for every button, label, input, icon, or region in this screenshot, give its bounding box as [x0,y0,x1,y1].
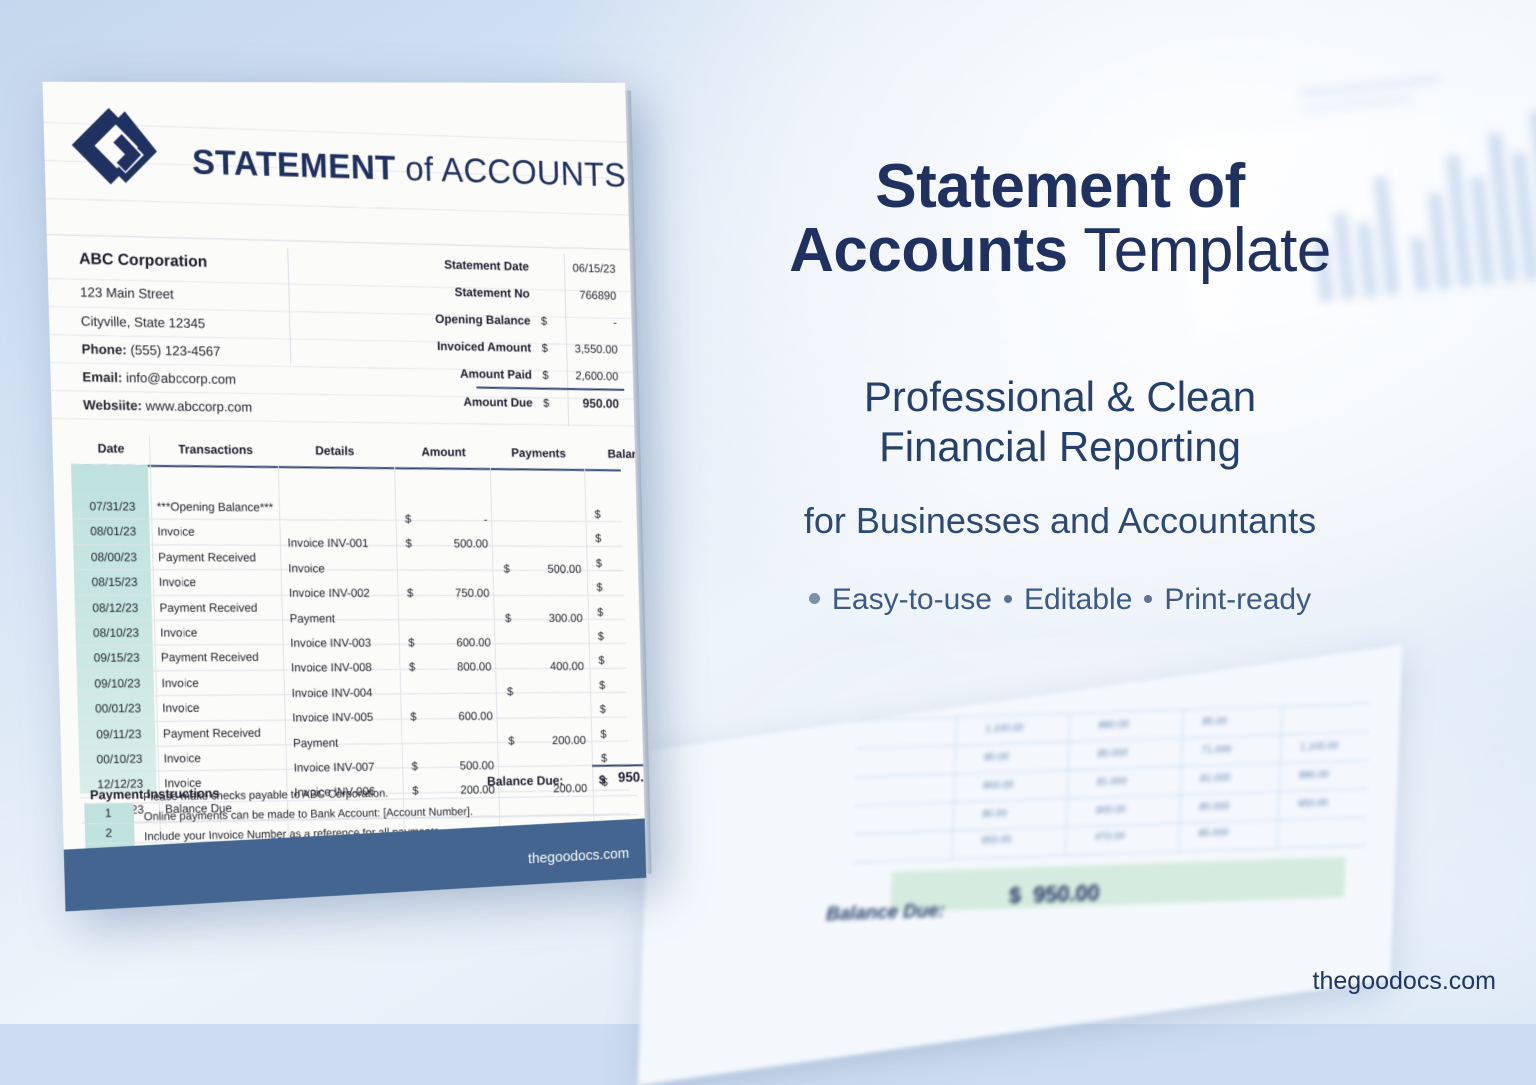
cell-balance-currency: $ [599,678,605,691]
cell-transaction: Payment Received [163,725,261,740]
bullet-dot-icon [1004,595,1012,603]
feature-print-ready: Print-ready [1164,583,1311,616]
summary-label-amount-due: Amount Due [463,395,533,410]
cell-balance-currency: $ [601,751,607,765]
cell-transaction: Invoice [157,525,194,539]
photo-balance-due-value: $ 950.00 [1009,880,1100,909]
bullet-dot-icon [1144,595,1152,603]
cell-balance [613,799,646,800]
cell-balance: 950.00 [611,702,647,716]
cell-balance-currency: $ [600,703,606,716]
column-split-left [287,248,291,364]
marketing-title: Statement of Accounts Template [690,155,1430,284]
summary-value-opening-balance: - [543,314,617,329]
cell-date: 09/10/23 [83,676,152,690]
table-row[interactable]: 07/31/23***Opening Balance***$-$- [72,494,622,522]
cell-transaction: Invoice [164,751,201,765]
balance-due-currency: $ [599,772,606,786]
table-row[interactable]: 08/10/23InvoiceInvoice INV-003$600.00$80… [75,620,625,646]
column-header-details: Details [281,444,388,459]
cell-balance-currency: $ [595,532,601,545]
cell-balance-currency: $ [594,508,600,521]
marketing-subtitle-line2: Financial Reporting [879,423,1241,470]
cell-transaction: Payment Received [161,650,259,664]
summary-value-statement-date: 06/15/23 [542,260,616,275]
balance-due-label: Balance Due: [487,773,564,789]
site-brand-watermark: thegoodocs.com [1313,967,1496,996]
cell-balance-currency: $ [600,727,606,740]
cell-date: 09/11/23 [84,726,153,741]
column-header-payments: Payments [495,446,582,460]
feature-easy-to-use: Easy-to-use [832,583,992,616]
summary-label-invoiced-amount: Invoiced Amount [437,339,531,354]
cell-balance-currency: $ [598,654,604,667]
cell-transaction: Invoice [161,676,198,690]
document-title: STATEMENT of ACCOUNTS [192,143,627,196]
table-row[interactable]: 08/00/23Payment ReceivedInvoice$500.00$- [73,545,623,571]
cell-payment [523,806,588,807]
company-website: Websiite: www.abccorp.com [83,397,252,414]
cell-payment [520,708,585,709]
summary-label-amount-paid: Amount Paid [460,367,532,382]
summary-value-statement-no: 766890 [542,287,616,302]
marketing-subtitle-line1: Professional & Clean [864,373,1256,420]
table-row[interactable]: 08/01/23InvoiceInvoice INV-001$500.00$50… [72,519,622,546]
cell-date: 08/01/23 [79,524,148,538]
cell-balance: 150.00 [612,750,646,764]
company-address-line2: Cityville, State 12345 [81,314,206,331]
summary-value-invoiced-amount: 3,550.00 [544,341,618,356]
cell-payment [522,757,587,758]
summary-label-statement-date: Statement Date [444,258,529,274]
cell-transaction: Payment Received [159,600,257,614]
marketing-subtitle-line3: for Businesses and Accountants [690,500,1430,542]
photo-document-mini-table: 1,100.00 80.00 800.00 80.00 950.00 880.0… [852,703,1370,872]
cell-balance: 950.00 [610,678,646,692]
company-logo-icon [65,101,162,200]
cell-date: 00/01/23 [83,701,152,715]
marketing-subtitle: Professional & Clean Financial Reporting [690,372,1430,471]
cell-transaction: Invoice [159,575,196,589]
cell-date: 09/15/23 [82,651,151,665]
cell-balance: 150.00 [611,726,646,740]
cell-transaction: Payment Received [158,550,256,564]
column-header-date: Date [74,441,147,456]
balance-due-value: 950.00 [618,770,646,786]
table-row[interactable]: 08/12/23Payment ReceivedPayment$300.00$4… [75,595,625,620]
summary-value-amount-due: 950.00 [545,395,619,410]
header-divider [47,234,630,250]
table-row[interactable]: 09/15/23Payment ReceivedInvoice INV-008$… [76,644,626,671]
cell-date: 07/31/23 [78,499,147,513]
transactions-table[interactable]: Date Transactions Details Amount Payment… [70,434,629,793]
cell-balance-currency: $ [598,629,604,642]
statement-document[interactable]: STATEMENT of ACCOUNTS ABC Corporation 12… [42,82,646,912]
company-phone: Phone: (555) 123-4567 [81,342,220,359]
column-header-amount: Amount [399,445,488,460]
photo-balance-due-label: Balance Due: [826,900,946,926]
summary-value-amount-paid: 2,600.00 [545,368,619,383]
cell-amount [426,734,493,735]
cell-date: 08/10/23 [81,626,150,640]
table-row[interactable]: 08/15/23InvoiceInvoice INV-002$750.00$75… [74,570,624,595]
marketing-feature-list: Easy-to-useEditablePrint-ready [690,583,1430,617]
cell-date: 00/10/23 [85,752,154,767]
feature-editable: Editable [1024,583,1132,616]
cell-balance-currency: $ [596,556,602,569]
cell-date: 08/12/23 [81,600,150,614]
cell-transaction: ***Opening Balance*** [157,500,274,515]
summary-label-opening-balance: Opening Balance [435,312,531,328]
cell-balance-currency: $ [597,605,603,618]
company-address-line1: 123 Main Street [80,285,174,302]
payment-instruction-number-2: 2 [85,825,133,840]
cell-transaction: Invoice [162,701,199,715]
document-footer-brand: thegoodocs.com [528,845,630,867]
summary-total-divider [476,387,624,391]
bullet-dot-icon [809,593,820,604]
company-name: ABC Corporation [79,251,208,272]
cell-date: 08/00/23 [79,550,148,564]
company-email: Email: info@abccorp.com [82,370,236,387]
payment-instruction-number-1: 1 [84,806,132,821]
cell-balance-currency: $ [596,581,602,594]
cell-date: 08/15/23 [80,575,149,589]
cell-transaction: Invoice [160,626,197,640]
column-header-transactions: Transactions [153,442,278,457]
summary-label-statement-no: Statement No [454,285,529,300]
balance-due-rule [592,764,646,767]
